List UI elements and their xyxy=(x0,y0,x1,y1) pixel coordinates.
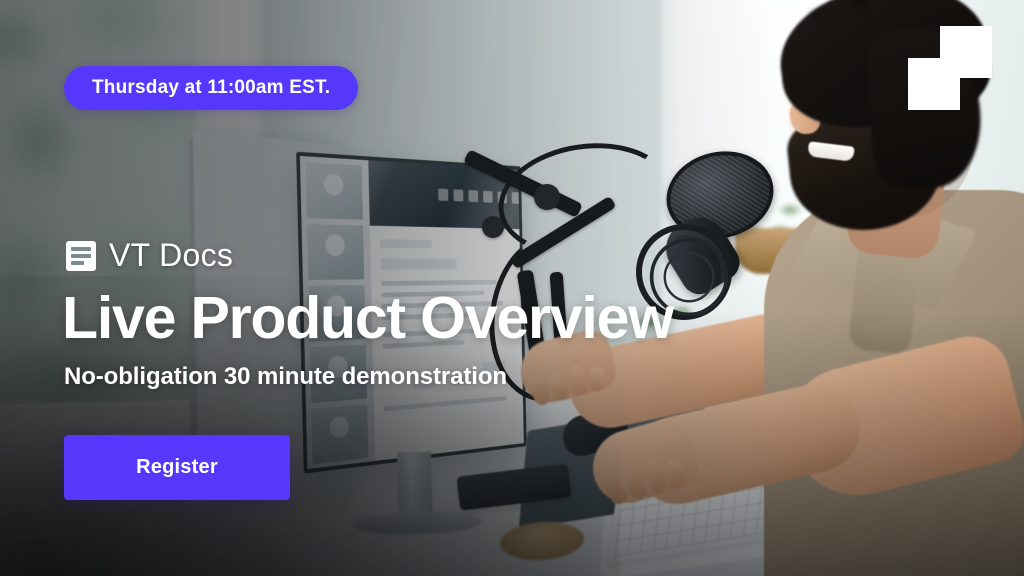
logo-square-bottom-left xyxy=(908,58,960,110)
page-title: Live Product Overview xyxy=(62,288,673,350)
product-logo[interactable]: VT Docs xyxy=(66,237,233,274)
webinar-promo-banner: Thursday at 11:00am EST. VT Docs Live Pr… xyxy=(0,0,1024,576)
banner-content: Thursday at 11:00am EST. VT Docs Live Pr… xyxy=(0,0,1024,576)
product-logo-text: VT Docs xyxy=(109,237,233,274)
page-subtitle: No-obligation 30 minute demonstration xyxy=(64,363,507,391)
register-button[interactable]: Register xyxy=(64,435,290,500)
document-lines-icon xyxy=(66,241,96,271)
two-squares-logo-icon xyxy=(908,26,992,110)
schedule-badge: Thursday at 11:00am EST. xyxy=(64,66,358,110)
